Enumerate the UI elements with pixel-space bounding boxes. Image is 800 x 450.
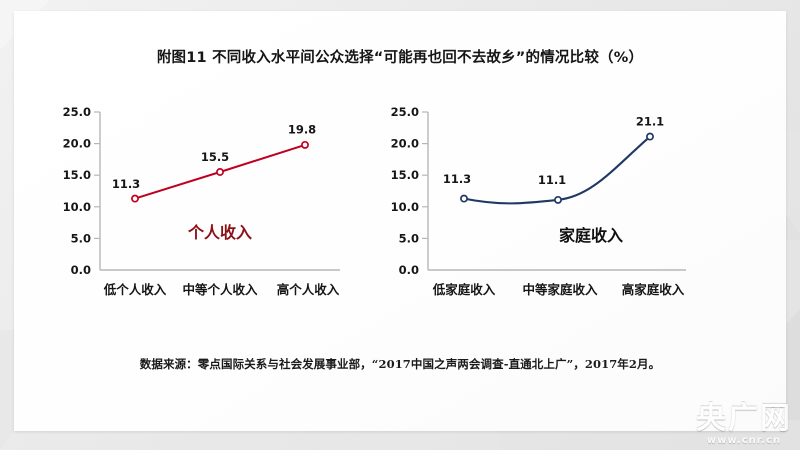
data-point-label: 15.5 [201, 150, 229, 164]
y-axis-ticks [94, 112, 100, 238]
data-point-marker[interactable] [555, 197, 561, 203]
y-tick-label: 15.0 [63, 168, 91, 182]
y-tick-label: 15.0 [391, 168, 419, 182]
data-point-marker[interactable] [461, 196, 467, 202]
data-point-marker[interactable] [132, 196, 138, 202]
data-point-marker[interactable] [647, 134, 653, 140]
series-label-family-income: 家庭收入 [559, 226, 623, 245]
x-tick-label: 低个人收入 [103, 282, 167, 297]
y-tick-label: 20.0 [63, 137, 91, 151]
chart-panel-family-income: 0.0 5.0 10.0 15.0 20.0 25.0 11.3 11.1 21… [374, 98, 694, 308]
y-axis-tick-labels: 0.0 5.0 10.0 15.0 20.0 25.0 [391, 105, 419, 277]
data-point-labels: 11.3 15.5 19.8 [112, 123, 316, 192]
x-axis-tick-labels: 低个人收入 中等个人收入 高个人收入 [103, 282, 340, 297]
data-source-footnote: 数据来源：零点国际关系与社会发展事业部，“2017中国之声两会调查-直通北上广”… [0, 356, 800, 372]
line-chart-family-income: 0.0 5.0 10.0 15.0 20.0 25.0 11.3 11.1 21… [374, 98, 694, 308]
data-line-family-income [464, 137, 650, 204]
x-tick-label: 低家庭收入 [432, 282, 496, 297]
data-point-label: 21.1 [636, 115, 664, 129]
series-label-personal-income: 个人收入 [187, 223, 252, 242]
x-tick-label: 高家庭收入 [622, 282, 685, 297]
data-point-label: 11.3 [443, 172, 471, 186]
page-title: 附图11 不同收入水平间公众选择“可能再也回不去故乡”的情况比较（%） [0, 46, 800, 67]
y-tick-label: 0.0 [71, 263, 91, 277]
y-tick-label: 10.0 [391, 200, 419, 214]
y-tick-label: 20.0 [391, 137, 419, 151]
y-tick-label: 10.0 [63, 200, 91, 214]
x-tick-label: 中等个人收入 [182, 282, 258, 297]
y-axis-tick-labels: 0.0 5.0 10.0 15.0 20.0 25.0 [63, 105, 91, 277]
data-point-marker[interactable] [217, 169, 223, 175]
x-tick-label: 中等家庭收入 [522, 282, 598, 297]
data-point-label: 11.3 [112, 177, 140, 191]
y-tick-label: 25.0 [391, 105, 419, 119]
data-point-labels: 11.3 11.1 21.1 [443, 115, 664, 188]
line-chart-personal-income: 0.0 5.0 10.0 15.0 20.0 25.0 11.3 15.5 19… [52, 98, 352, 308]
y-axis-ticks [422, 112, 428, 238]
x-tick-label: 高个人收入 [277, 282, 340, 297]
data-point-label: 11.1 [538, 173, 566, 187]
y-tick-label: 0.0 [399, 263, 419, 277]
y-tick-label: 5.0 [71, 231, 91, 245]
y-tick-label: 25.0 [63, 105, 91, 119]
y-tick-label: 5.0 [399, 231, 419, 245]
chart-panel-personal-income: 0.0 5.0 10.0 15.0 20.0 25.0 11.3 15.5 19… [52, 98, 352, 308]
data-point-marker[interactable] [302, 142, 308, 148]
x-axis-tick-labels: 低家庭收入 中等家庭收入 高家庭收入 [432, 282, 685, 297]
data-point-label: 19.8 [288, 123, 316, 137]
